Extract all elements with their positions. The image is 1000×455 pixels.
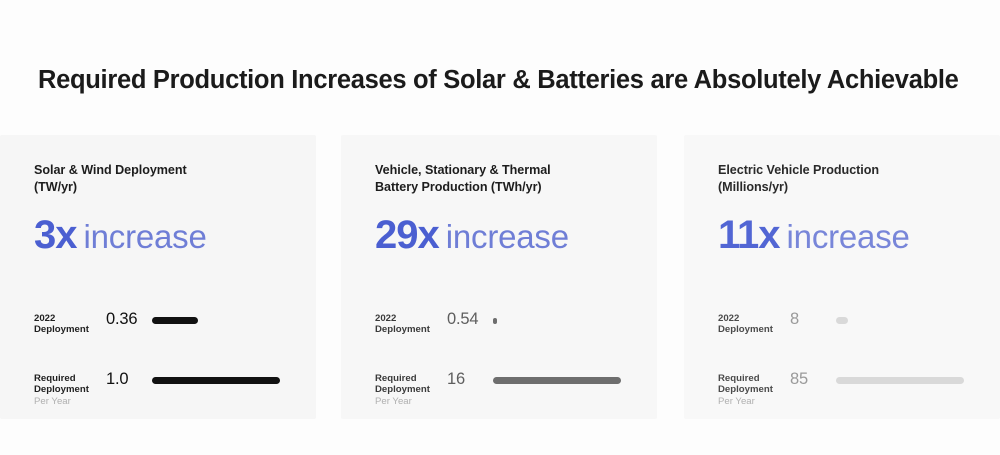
- stat-label: Required Deployment Per Year: [718, 371, 790, 407]
- stat-label-line2: Deployment: [718, 324, 773, 335]
- stat-list: 2022 Deployment 0.36 Required Deployment…: [34, 311, 302, 415]
- card-heading: Electric Vehicle Production (Millions/yr…: [718, 162, 968, 195]
- stat-label-line1: Required: [34, 373, 76, 384]
- stat-bar: [836, 317, 848, 324]
- stat-label-line2: Deployment: [375, 384, 430, 395]
- multiple-value: 29x: [375, 213, 439, 257]
- stat-label-line3: Per Year: [34, 396, 106, 407]
- card-heading: Solar & Wind Deployment (TW/yr): [34, 162, 284, 195]
- stat-label-line1: Required: [718, 373, 760, 384]
- multiple-value: 3x: [34, 213, 77, 257]
- stat-list: 2022 Deployment 0.54 Required Deployment…: [375, 311, 643, 415]
- card-heading-line2: (Millions/yr): [718, 180, 788, 194]
- stat-label-line1: 2022: [375, 313, 396, 324]
- stat-label: 2022 Deployment: [718, 311, 790, 336]
- headline-increase: 3xincrease: [34, 215, 316, 255]
- card-heading-line1: Vehicle, Stationary & Thermal: [375, 163, 551, 177]
- card-heading-line2: (TW/yr): [34, 180, 77, 194]
- stat-label-line1: Required: [375, 373, 417, 384]
- card-heading-line1: Electric Vehicle Production: [718, 163, 879, 177]
- stat-label: 2022 Deployment: [34, 311, 106, 336]
- increase-word: increase: [446, 218, 569, 255]
- metric-card-battery-production: Vehicle, Stationary & Thermal Battery Pr…: [341, 135, 657, 419]
- stat-label-line3: Per Year: [718, 396, 790, 407]
- metric-card-row: Solar & Wind Deployment (TW/yr) 3xincrea…: [0, 135, 1000, 419]
- stat-bar-track: [493, 371, 643, 389]
- stat-bar: [836, 377, 964, 384]
- stat-value: 1.0: [106, 371, 152, 388]
- stat-label-line2: Deployment: [375, 324, 430, 335]
- headline-increase: 11xincrease: [718, 215, 1000, 255]
- increase-word: increase: [84, 218, 207, 255]
- page-title: Required Production Increases of Solar &…: [38, 66, 959, 95]
- card-heading-line1: Solar & Wind Deployment: [34, 163, 187, 177]
- stat-value: 0.36: [106, 311, 152, 328]
- stat-bar-track: [836, 371, 986, 389]
- stat-label-line2: Deployment: [34, 324, 89, 335]
- increase-word: increase: [787, 218, 910, 255]
- stat-label-line2: Deployment: [34, 384, 89, 395]
- stat-label-line1: 2022: [718, 313, 739, 324]
- stat-value: 85: [790, 371, 836, 388]
- stat-label: Required Deployment Per Year: [375, 371, 447, 407]
- stat-label: Required Deployment Per Year: [34, 371, 106, 407]
- stat-row: Required Deployment Per Year 85: [718, 371, 986, 415]
- stat-row: 2022 Deployment 0.36: [34, 311, 302, 355]
- stat-bar: [152, 377, 280, 384]
- stat-label: 2022 Deployment: [375, 311, 447, 336]
- stat-value: 16: [447, 371, 493, 388]
- stat-bar-track: [493, 311, 643, 329]
- multiple-value: 11x: [718, 213, 780, 257]
- stat-value: 0.54: [447, 311, 493, 328]
- stat-label-line2: Deployment: [718, 384, 773, 395]
- stat-list: 2022 Deployment 8 Required Deployment Pe…: [718, 311, 986, 415]
- stat-bar-track: [836, 311, 986, 329]
- card-heading: Vehicle, Stationary & Thermal Battery Pr…: [375, 162, 625, 195]
- stat-label-line3: Per Year: [375, 396, 447, 407]
- stat-row: 2022 Deployment 0.54: [375, 311, 643, 355]
- stat-row: Required Deployment Per Year 1.0: [34, 371, 302, 415]
- card-heading-line2: Battery Production (TWh/yr): [375, 180, 542, 194]
- stat-row: 2022 Deployment 8: [718, 311, 986, 355]
- metric-card-solar-wind: Solar & Wind Deployment (TW/yr) 3xincrea…: [0, 135, 316, 419]
- stat-bar: [493, 377, 621, 384]
- stat-bar: [152, 317, 198, 324]
- infographic-page: Required Production Increases of Solar &…: [0, 0, 1000, 455]
- headline-increase: 29xincrease: [375, 215, 657, 255]
- stat-label-line1: 2022: [34, 313, 55, 324]
- metric-card-ev-production: Electric Vehicle Production (Millions/yr…: [684, 135, 1000, 419]
- stat-bar-track: [152, 371, 302, 389]
- stat-value: 8: [790, 311, 836, 328]
- stat-row: Required Deployment Per Year 16: [375, 371, 643, 415]
- stat-bar-track: [152, 311, 302, 329]
- stat-bar: [493, 318, 497, 324]
